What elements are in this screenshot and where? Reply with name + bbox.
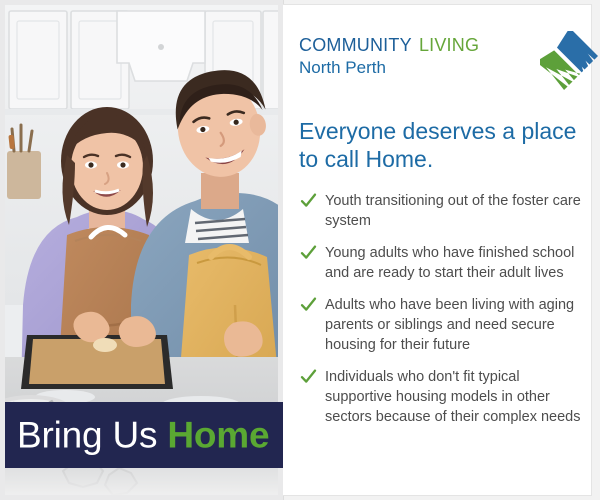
list-item-label: Youth transitioning out of the foster ca… xyxy=(325,193,581,229)
eligibility-list: Youth transitioning out of the foster ca… xyxy=(299,191,581,427)
community-living-logo[interactable]: Community Living North Perth xyxy=(299,29,579,93)
logo-wordmark: Community Living North Perth xyxy=(299,29,535,78)
diamond-rays-logo-mark-icon xyxy=(540,31,598,91)
check-icon xyxy=(300,296,317,313)
list-item-label: Individuals who don't fit typical suppor… xyxy=(325,369,581,425)
list-item: Individuals who don't fit typical suppor… xyxy=(299,367,581,427)
check-icon xyxy=(300,244,317,261)
logo-word-community: Community xyxy=(299,29,419,57)
list-item: Youth transitioning out of the foster ca… xyxy=(299,191,581,231)
list-item: Adults who have been living with aging p… xyxy=(299,295,581,355)
banner-text-white: Bring Us xyxy=(17,415,167,456)
photo-panel: Bring Us Home xyxy=(0,0,284,500)
banner-text: Bring Us Home xyxy=(17,417,269,454)
poster-root: Bring Us Home Community Living North Per… xyxy=(0,0,600,500)
logo-word-living: Living xyxy=(419,29,479,57)
logo-wordmark-line1: Community Living xyxy=(299,29,535,57)
page-title: Everyone deserves a place to call Home. xyxy=(299,117,579,173)
logo-subtitle: North Perth xyxy=(299,58,535,78)
bring-us-home-banner: Bring Us Home xyxy=(5,402,283,468)
content-panel: Community Living North Perth xyxy=(283,4,592,496)
banner-text-green: Home xyxy=(167,415,269,456)
check-icon xyxy=(300,192,317,209)
check-icon xyxy=(300,368,317,385)
list-item: Young adults who have finished school an… xyxy=(299,243,581,283)
list-item-label: Young adults who have finished school an… xyxy=(325,245,574,281)
list-item-label: Adults who have been living with aging p… xyxy=(325,297,574,353)
